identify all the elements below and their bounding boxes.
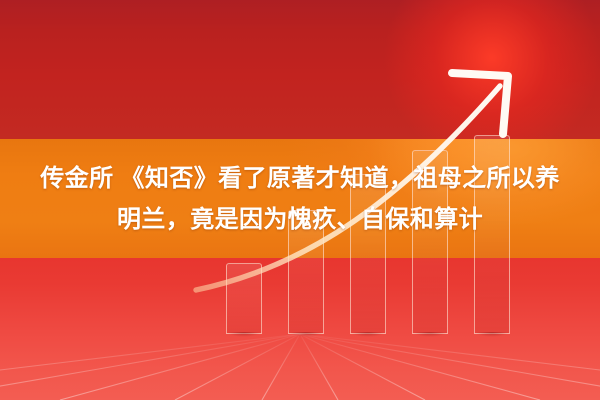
page-title: 传金所 《知否》看了原著才知道，祖母之所以养 明兰，竟是因为愧疚、自保和算计 [8,158,592,240]
perspective-floor [0,334,600,400]
bar-shadow [474,332,510,338]
bar-shadow [350,332,386,338]
banner-image: 传金所 《知否》看了原著才知道，祖母之所以养 明兰，竟是因为愧疚、自保和算计 [0,0,600,400]
chart-bar [226,263,262,334]
bar-shadow [226,332,262,338]
bar-shadow [288,332,324,338]
floor-grid-icon [0,334,600,400]
background-band-top [0,0,600,139]
bar-shadow [412,332,448,338]
